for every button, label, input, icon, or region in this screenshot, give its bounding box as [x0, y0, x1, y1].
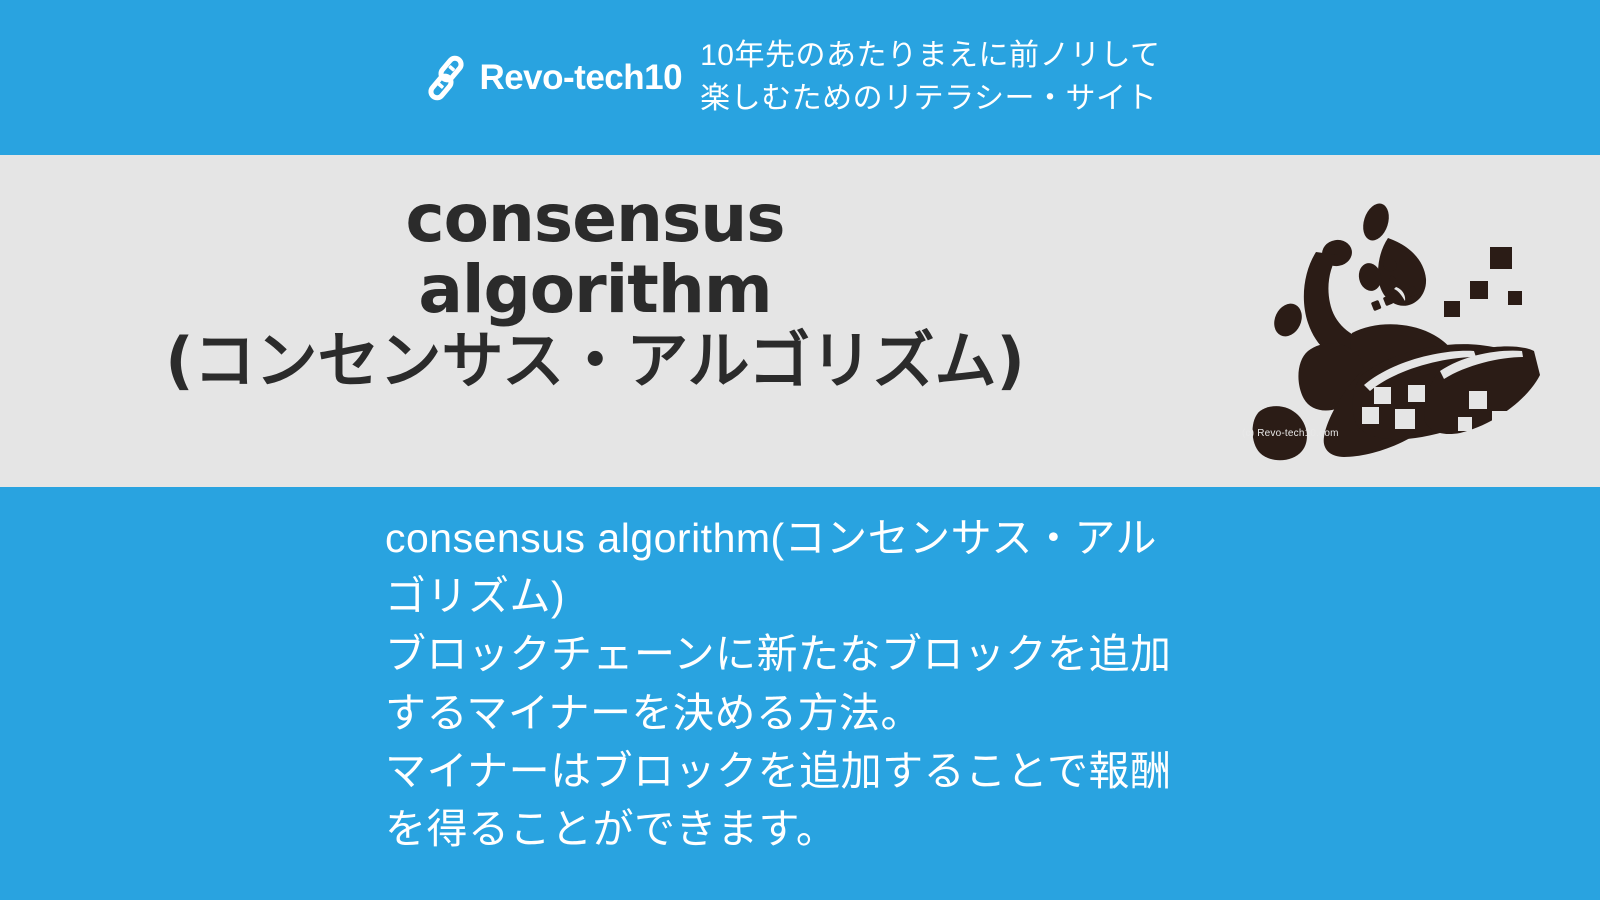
site-tagline: 10年先のあたりまえに前ノリして 楽しむためのリテラシー・サイト	[700, 35, 1160, 120]
page-title: consensus algorithm (コンセンサス・アルゴリズム)	[0, 183, 1190, 395]
definition-description-2: マイナーはブロックを追加することで報酬を得ることができます。	[385, 742, 1197, 858]
definition-text: consensus algorithm(コンセンサス・アルゴリズム) ブロックチ…	[385, 509, 1197, 858]
copyright-watermark: (c) Revo-tech10.com	[1242, 428, 1339, 439]
panda-surfing-blockchain-icon: (c) Revo-tech10.com	[1212, 175, 1542, 475]
definition-term: consensus algorithm(コンセンサス・アルゴリズム)	[385, 509, 1197, 625]
brand-name: Revo-tech10	[479, 60, 682, 95]
site-brand[interactable]: Revo-tech10	[423, 55, 682, 101]
page-title-jp: (コンセンサス・アルゴリズム)	[0, 326, 1190, 395]
tagline-line-2: 楽しむためのリテラシー・サイト	[700, 78, 1160, 121]
definition-description-1: ブロックチェーンに新たなブロックを追加するマイナーを決める方法。	[385, 625, 1197, 741]
tagline-line-1: 10年先のあたりまえに前ノリして	[700, 35, 1160, 78]
page-title-en-line-2: algorithm	[0, 254, 1190, 325]
site-header: Revo-tech10 10年先のあたりまえに前ノリして 楽しむためのリテラシー…	[0, 0, 1600, 155]
body-band: consensus algorithm(コンセンサス・アルゴリズム) ブロックチ…	[0, 487, 1600, 900]
title-band: consensus algorithm (コンセンサス・アルゴリズム)	[0, 155, 1600, 487]
header-inner: Revo-tech10 10年先のあたりまえに前ノリして 楽しむためのリテラシー…	[423, 35, 1160, 120]
page-title-en-line-1: consensus	[0, 183, 1190, 254]
chain-link-icon	[423, 55, 469, 101]
page-root: Revo-tech10 10年先のあたりまえに前ノリして 楽しむためのリテラシー…	[0, 0, 1600, 900]
